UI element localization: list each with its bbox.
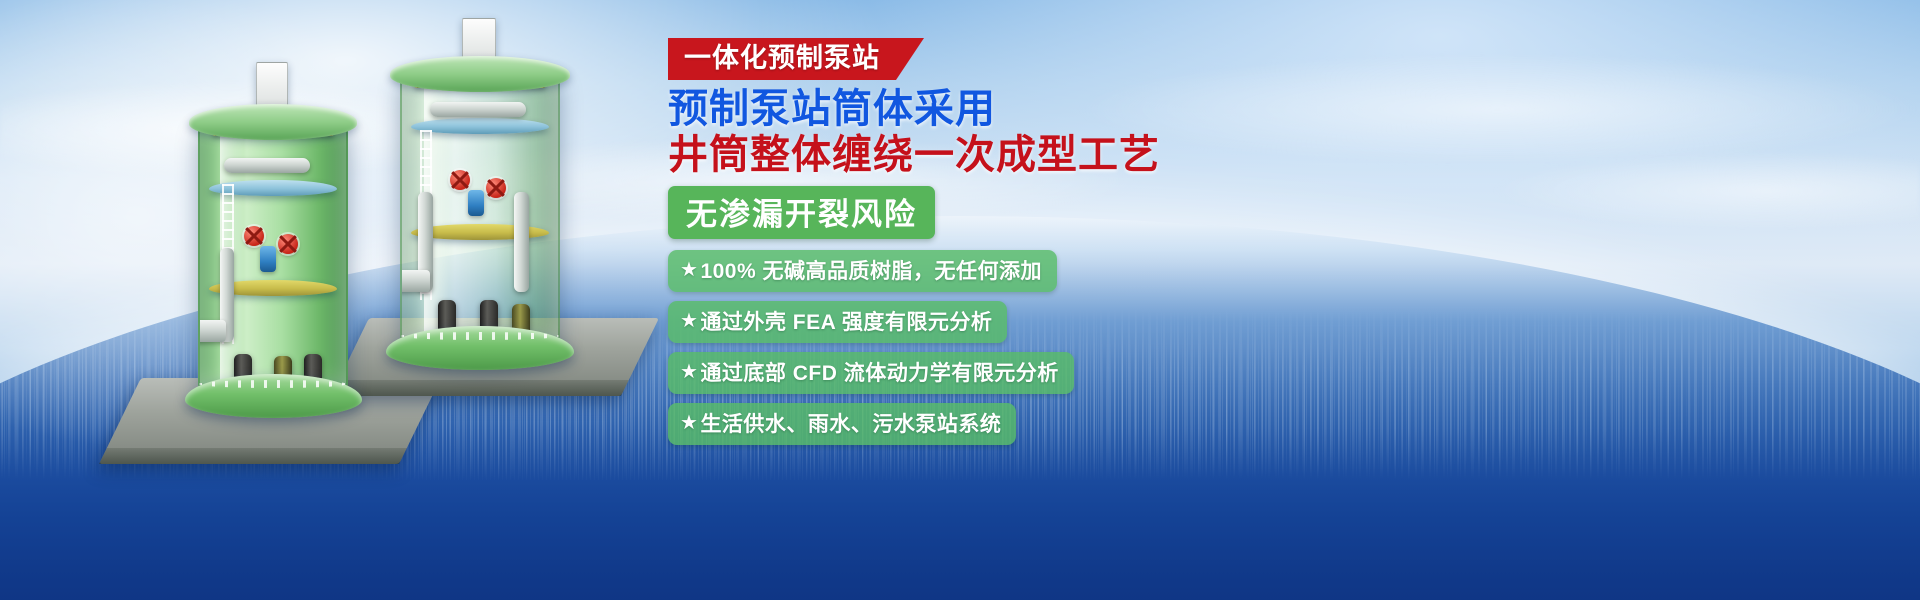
actuator-icon	[468, 190, 484, 216]
promotional-banner: 一体化预制泵站 预制泵站筒体采用 井筒整体缠绕一次成型工艺 无渗漏开裂风险 ★ …	[0, 0, 1920, 600]
star-icon: ★	[680, 362, 698, 382]
pump-station-unit-front	[198, 88, 348, 418]
discharge-pipe-horizontal	[224, 158, 310, 173]
headline-line-2: 井筒整体缠绕一次成型工艺	[668, 132, 1228, 178]
list-item-label: 生活供水、雨水、污水泵站系统	[700, 408, 1001, 438]
valve-icon	[450, 170, 470, 190]
station-top-cap	[390, 56, 569, 92]
list-item: ★ 生活供水、雨水、污水泵站系统	[668, 403, 1016, 445]
headline-line-1: 预制泵站筒体采用	[668, 86, 1228, 132]
product-illustration	[120, 18, 680, 488]
list-item: ★ 通过外壳 FEA 强度有限元分析	[668, 301, 1007, 343]
riser-pipe-2	[514, 192, 529, 292]
pump-station-unit-back	[400, 40, 560, 370]
inlet-pipe	[400, 270, 430, 292]
list-item-label: 通过外壳 FEA 强度有限元分析	[700, 306, 992, 336]
list-item-label: 100% 无碱高品质树脂，无任何添加	[700, 255, 1042, 285]
list-item-label: 通过底部 CFD 流体动力学有限元分析	[700, 357, 1058, 387]
valve-icon	[244, 226, 264, 246]
pump-station-shell-transparent	[400, 74, 560, 342]
feature-badge: 无渗漏开裂风险	[668, 186, 935, 239]
valve-icon	[486, 178, 506, 198]
station-top-cap	[189, 104, 357, 140]
list-item: ★ 通过底部 CFD 流体动力学有限元分析	[668, 352, 1074, 394]
banner-copy: 一体化预制泵站 预制泵站筒体采用 井筒整体缠绕一次成型工艺 无渗漏开裂风险 ★ …	[668, 38, 1228, 445]
pump-station-shell-solid	[198, 122, 348, 390]
station-base-ring	[185, 374, 362, 418]
list-item: ★ 100% 无碱高品质树脂，无任何添加	[668, 250, 1057, 292]
valve-icon	[278, 234, 298, 254]
star-icon: ★	[680, 413, 698, 433]
inlet-pipe	[198, 320, 226, 342]
feature-bullet-list: ★ 100% 无碱高品质树脂，无任何添加 ★ 通过外壳 FEA 强度有限元分析 …	[668, 250, 1228, 445]
star-icon: ★	[680, 311, 698, 331]
product-category-tag: 一体化预制泵站	[668, 38, 924, 80]
discharge-pipe-horizontal	[430, 102, 526, 117]
star-icon: ★	[680, 260, 698, 280]
station-base-ring	[386, 326, 575, 370]
actuator-icon	[260, 246, 276, 272]
